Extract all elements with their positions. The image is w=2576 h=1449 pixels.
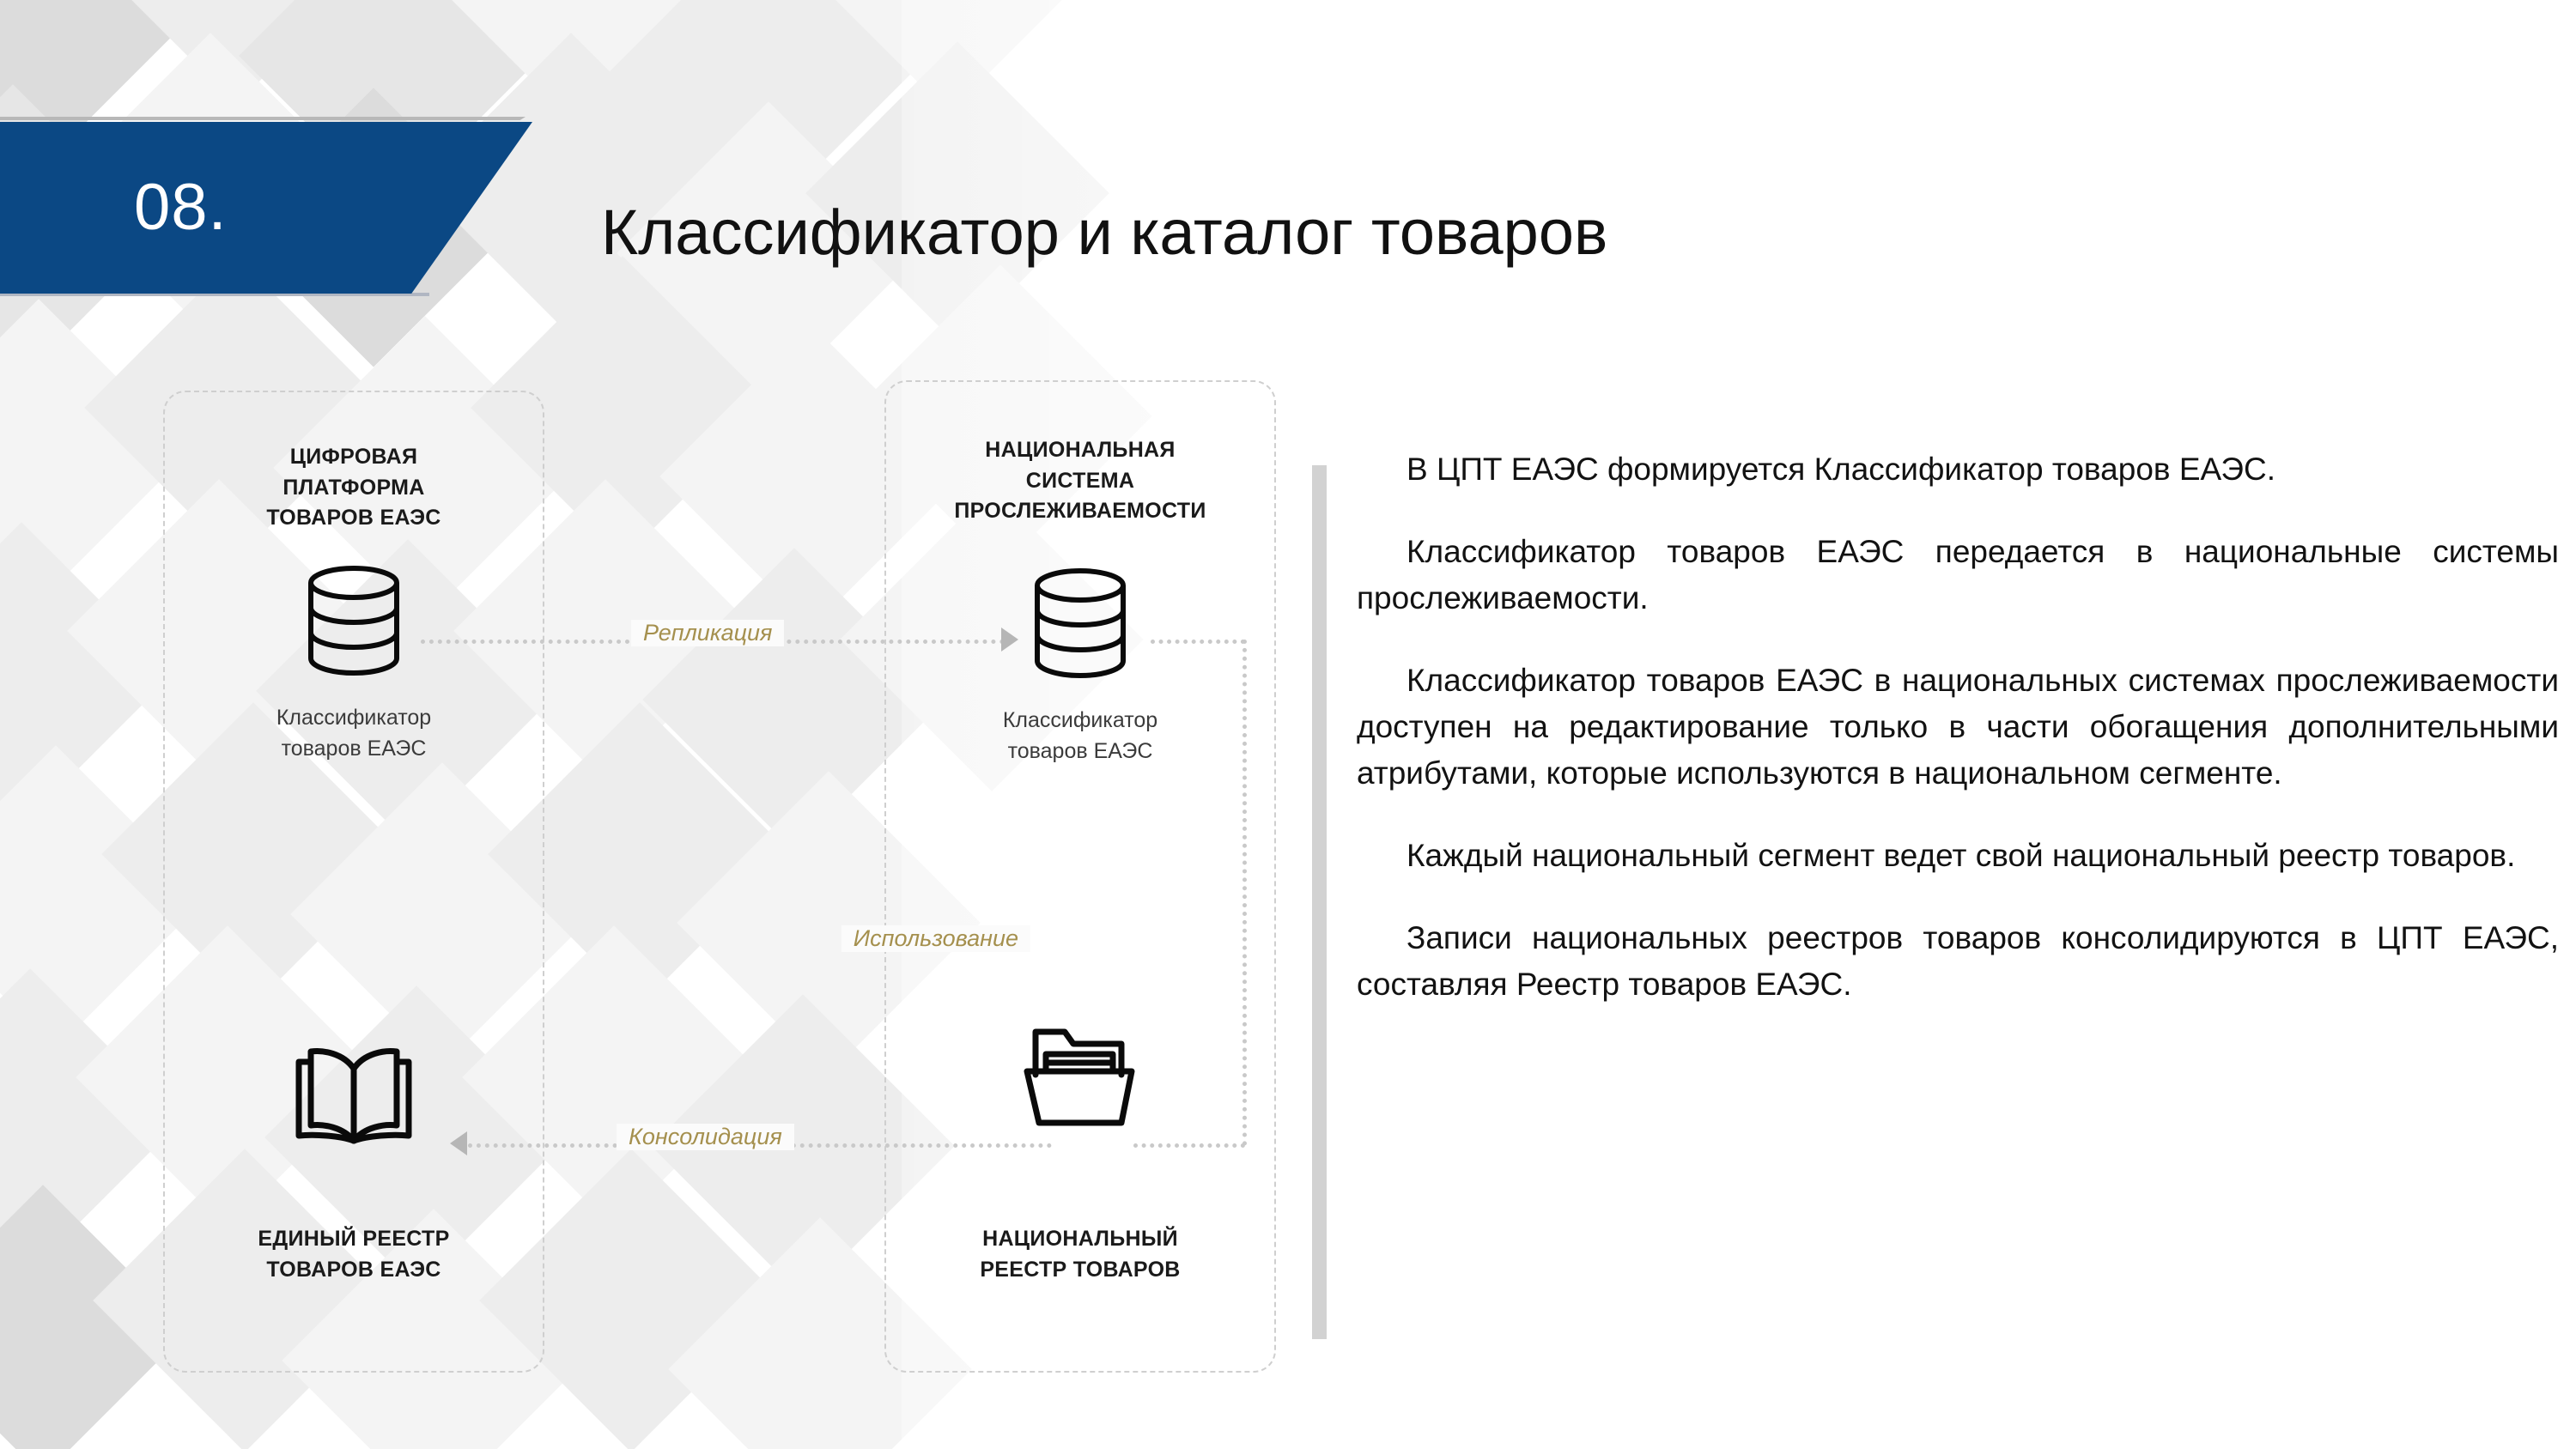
panel-platform-bottom-title: ЕДИНЫЙ РЕЕСТР ТОВАРОВ ЕАЭС [165,1224,543,1285]
open-book-icon [295,1045,412,1148]
panel-platform-title-line2: ПЛАТФОРМА [283,476,424,500]
panel-national-title-line2: СИСТЕМА [1026,469,1134,493]
node-national-classifier-caption: Классификатор товаров ЕАЭС [886,706,1274,767]
database-cylinder-icon [1029,567,1132,680]
edge-label-usage: Использование [841,925,1030,952]
edge-consolidation-arrowhead-icon [450,1131,467,1155]
panel-national-title-line1: НАЦИОНАЛЬНАЯ [985,438,1175,462]
edge-label-replication: Репликация [631,620,784,646]
caption-line2: товаров ЕАЭС [1008,739,1153,763]
panel-platform-title-line1: ЦИФРОВАЯ [290,445,418,469]
panel-platform-title: ЦИФРОВАЯ ПЛАТФОРМА ТОВАРОВ ЕАЭС [165,442,543,534]
text-column-rule [1312,465,1327,1339]
panel-national-title: НАЦИОНАЛЬНАЯ СИСТЕМА ПРОСЛЕЖИВАЕМОСТИ [886,435,1274,527]
body-paragraph-2: Классификатор товаров ЕАЭС передается в … [1357,529,2559,621]
panel-national-bottom-line1: НАЦИОНАЛЬНЫЙ [982,1227,1178,1251]
node-national-registry [886,1022,1274,1130]
panel-national-title-line3: ПРОСЛЕЖИВАЕМОСТИ [954,499,1206,523]
node-platform-classifier-caption: Классификатор товаров ЕАЭС [165,703,543,764]
edge-usage-line-h-bottom [1133,1143,1245,1148]
panel-platform-title-line3: ТОВАРОВ ЕАЭС [266,506,440,530]
open-folder-icon [1020,1022,1140,1130]
panel-national-bottom-line2: РЕЕСТР ТОВАРОВ [980,1258,1180,1282]
edge-usage-line-h-top [1151,640,1245,644]
database-cylinder-icon [302,564,405,677]
body-paragraph-5: Записи национальных реестров товаров кон… [1357,915,2559,1008]
panel-national-system: НАЦИОНАЛЬНАЯ СИСТЕМА ПРОСЛЕЖИВАЕМОСТИ [884,380,1276,1373]
edge-usage-line-v [1242,640,1247,1146]
node-unified-registry [165,1045,543,1148]
panel-national-bottom-title: НАЦИОНАЛЬНЫЙ РЕЕСТР ТОВАРОВ [886,1224,1274,1285]
caption-line1: Классификатор [276,706,431,730]
slide-canvas: 08. Классификатор и каталог товаров ЦИФР… [0,0,2576,1449]
node-platform-classifier: Классификатор товаров ЕАЭС [165,564,543,764]
body-paragraph-1: В ЦПТ ЕАЭС формируется Классификатор тов… [1357,446,2559,493]
panel-platform-bottom-line1: ЕДИНЫЙ РЕЕСТР [258,1227,449,1251]
body-paragraph-4: Каждый национальный сегмент ведет свой н… [1357,833,2559,879]
architecture-diagram: ЦИФРОВАЯ ПЛАТФОРМА ТОВАРОВ ЕАЭС [0,0,1305,1449]
caption-line1: Классификатор [1003,708,1157,732]
edge-replication-arrowhead-icon [1001,627,1018,652]
panel-platform-bottom-line2: ТОВАРОВ ЕАЭС [266,1258,440,1282]
body-text-column: В ЦПТ ЕАЭС формируется Классификатор тов… [1357,446,2559,1008]
caption-line2: товаров ЕАЭС [282,737,427,761]
node-national-classifier: Классификатор товаров ЕАЭС [886,567,1274,767]
edge-label-consolidation: Консолидация [617,1124,794,1150]
panel-digital-platform: ЦИФРОВАЯ ПЛАТФОРМА ТОВАРОВ ЕАЭС [163,391,544,1373]
body-paragraph-3: Классификатор товаров ЕАЭС в национальны… [1357,658,2559,797]
